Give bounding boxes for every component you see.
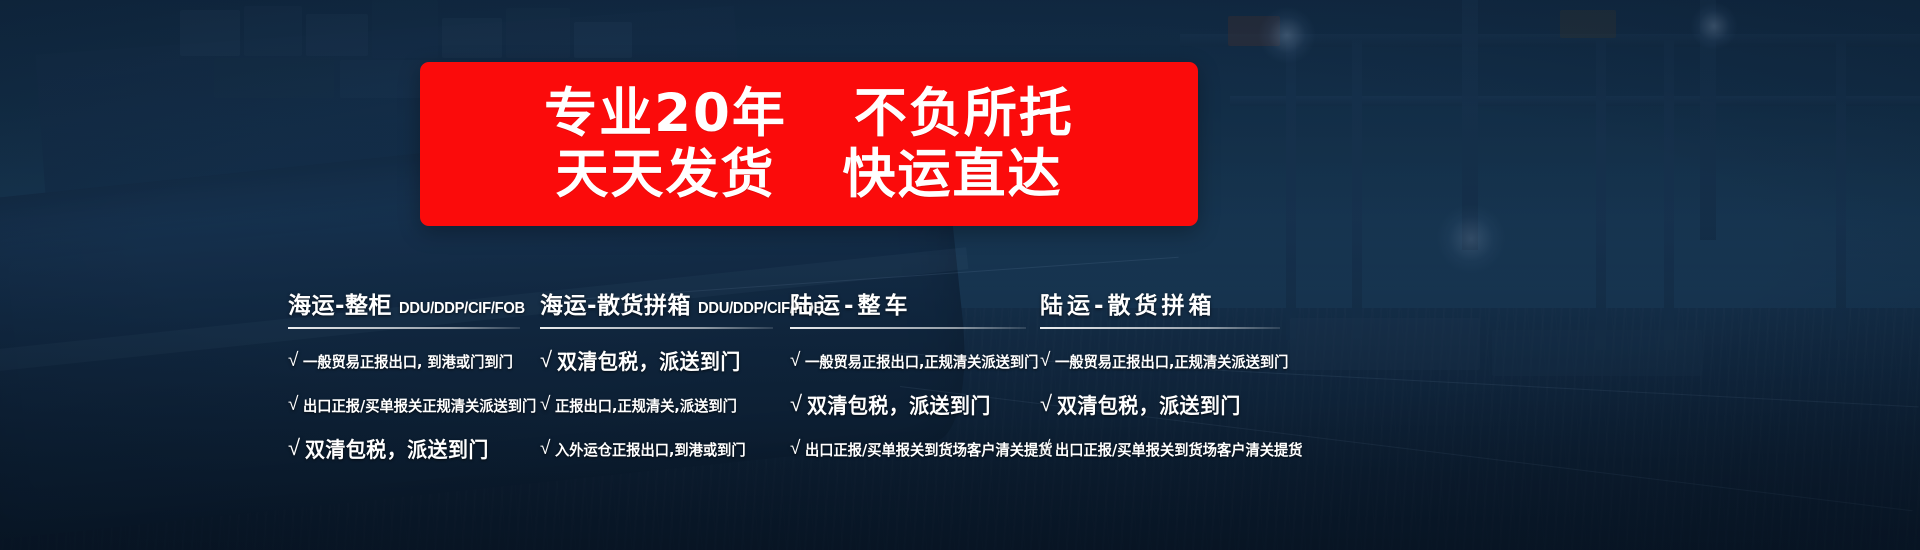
check-icon: √ xyxy=(540,395,550,414)
service-item: √ 出口正报/买单报关到货场客户清关提货 xyxy=(1040,427,1290,471)
service-column-header: 陆运-整车 xyxy=(790,286,1040,320)
check-icon: √ xyxy=(288,395,298,414)
check-icon: √ xyxy=(540,349,552,371)
service-column-header: 陆运-散货拼箱 xyxy=(1040,286,1290,320)
headline-plate: 专业20年 不负所托 天天发货 快运直达 xyxy=(420,62,1198,226)
service-item-list: √ 双清包税，派送到门 √ 正报出口,正规清关,派送到门 √ 入外运仓正报出口,… xyxy=(540,339,790,471)
check-icon: √ xyxy=(790,439,800,458)
service-item: √ 一般贸易正报出口,正规清关派送到门 xyxy=(790,339,1040,383)
service-item-list: √ 一般贸易正报出口, 到港或门到门 √ 出口正报/买单报关正规清关派送到门 √… xyxy=(288,339,540,471)
service-column-title: 陆运-散货拼箱 xyxy=(1040,286,1216,320)
check-icon: √ xyxy=(1040,439,1050,458)
headline-line-2: 天天发货 快运直达 xyxy=(556,146,1063,203)
check-icon: √ xyxy=(1040,393,1052,415)
headline-line-1-part-1: 专业20年 xyxy=(544,83,787,144)
service-item-label: 一般贸易正报出口,正规清关派送到门 xyxy=(1055,351,1288,372)
header-divider xyxy=(288,327,520,329)
headline-line-2-part-1: 天天发货 xyxy=(556,144,776,205)
service-item-label: 双清包税，派送到门 xyxy=(305,434,489,464)
header-divider xyxy=(1040,327,1280,329)
service-item-label: 正报出口,正规清关,派送到门 xyxy=(555,395,737,416)
check-icon: √ xyxy=(790,351,800,370)
service-item-label: 入外运仓正报出口,到港或到门 xyxy=(555,439,746,460)
check-icon: √ xyxy=(540,439,550,458)
service-item-label: 一般贸易正报出口, 到港或门到门 xyxy=(303,351,513,372)
service-item-label: 出口正报/买单报关到货场客户清关提货 xyxy=(1055,439,1302,460)
service-item-list: √ 一般贸易正报出口,正规清关派送到门 √ 双清包税，派送到门 √ 出口正报/买… xyxy=(1040,339,1290,471)
service-columns: 海运-整柜 DDU/DDP/CIF/FOB √ 一般贸易正报出口, 到港或门到门… xyxy=(0,286,1920,536)
service-column-sea-fcl: 海运-整柜 DDU/DDP/CIF/FOB √ 一般贸易正报出口, 到港或门到门… xyxy=(288,286,540,536)
promo-banner: 专业20年 不负所托 天天发货 快运直达 海运-整柜 DDU/DDP/CIF/F… xyxy=(0,0,1920,550)
check-icon: √ xyxy=(1040,351,1050,370)
service-item: √ 双清包税，派送到门 xyxy=(288,427,540,471)
service-column-subtitle: DDU/DDP/CIF/FOB xyxy=(399,300,525,318)
headline-line-2-part-2: 快运直达 xyxy=(842,144,1062,205)
service-item-label: 双清包税，派送到门 xyxy=(807,390,991,420)
service-item: √ 双清包税，派送到门 xyxy=(540,339,790,383)
service-item: √ 一般贸易正报出口, 到港或门到门 xyxy=(288,339,540,383)
service-column-title: 海运-整柜 xyxy=(288,286,392,320)
service-item: √ 双清包税，派送到门 xyxy=(790,383,1040,427)
service-item: √ 出口正报/买单报关到货场客户清关提货 xyxy=(790,427,1040,471)
header-divider xyxy=(790,327,1026,329)
service-item-label: 出口正报/买单报关到货场客户清关提货 xyxy=(805,439,1052,460)
headline-line-1-part-2: 不负所托 xyxy=(854,83,1074,144)
service-item: √ 双清包税，派送到门 xyxy=(1040,383,1290,427)
service-item-list: √ 一般贸易正报出口,正规清关派送到门 √ 双清包税，派送到门 √ 出口正报/买… xyxy=(790,339,1040,471)
check-icon: √ xyxy=(288,351,298,370)
service-column-land-ftl: 陆运-整车 √ 一般贸易正报出口,正规清关派送到门 √ 双清包税，派送到门 √ … xyxy=(790,286,1040,536)
service-item: √ 入外运仓正报出口,到港或到门 xyxy=(540,427,790,471)
check-icon: √ xyxy=(790,393,802,415)
service-item: √ 一般贸易正报出口,正规清关派送到门 xyxy=(1040,339,1290,383)
service-column-title: 海运-散货拼箱 xyxy=(540,286,691,320)
service-item-label: 出口正报/买单报关正规清关派送到门 xyxy=(303,395,536,416)
headline-line-1: 专业20年 不负所托 xyxy=(544,85,1074,142)
service-item-label: 双清包税，派送到门 xyxy=(557,346,741,376)
service-item: √ 正报出口,正规清关,派送到门 xyxy=(540,383,790,427)
service-item-label: 一般贸易正报出口,正规清关派送到门 xyxy=(805,351,1038,372)
service-column-sea-lcl: 海运-散货拼箱 DDU/DDP/CIF/FOB √ 双清包税，派送到门 √ 正报… xyxy=(540,286,790,536)
service-item: √ 出口正报/买单报关正规清关派送到门 xyxy=(288,383,540,427)
check-icon: √ xyxy=(288,437,300,459)
service-item-label: 双清包税，派送到门 xyxy=(1057,390,1241,420)
service-column-header: 海运-整柜 DDU/DDP/CIF/FOB xyxy=(288,286,540,320)
service-column-land-ltl: 陆运-散货拼箱 √ 一般贸易正报出口,正规清关派送到门 √ 双清包税，派送到门 … xyxy=(1040,286,1290,536)
header-divider xyxy=(540,327,773,329)
service-column-title: 陆运-整车 xyxy=(790,286,912,320)
service-column-header: 海运-散货拼箱 DDU/DDP/CIF/FOB xyxy=(540,286,790,320)
